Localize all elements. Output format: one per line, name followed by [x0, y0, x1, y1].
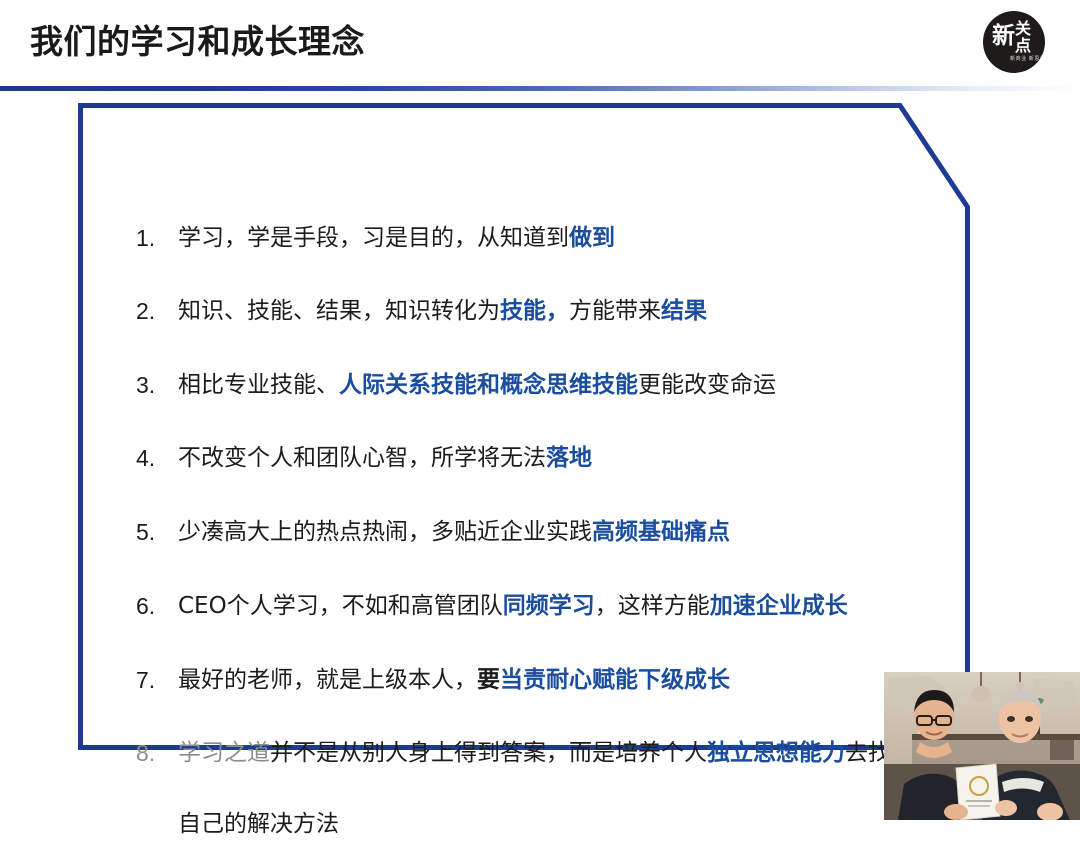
- list-item-text: 少凑高大上的热点热闹，多贴近企业实践高频基础痛点: [178, 515, 730, 549]
- logo-subtext: 新商业 新思维: [1010, 55, 1045, 62]
- list-item: 8. 学习之道并不是从别人身上得到答案，而是培养个人独立思想能力去找: [136, 736, 891, 770]
- list-item-number: 5.: [136, 515, 178, 549]
- list-item-number: 1.: [136, 221, 178, 255]
- text-segment: 知识、技能、结果，知识转化为: [178, 298, 500, 324]
- text-segment-bold: 要: [477, 667, 500, 693]
- text-segment: 相比专业技能、: [178, 372, 339, 398]
- text-segment-dim: 学习之道: [178, 740, 270, 766]
- text-segment: ，这样方能: [595, 593, 710, 619]
- slide-root: 我们的学习和成长理念 新 关 点 新商业 新思维 1. 学习，学是手段，习是目的…: [0, 0, 1080, 820]
- list-item-text: 相比专业技能、人际关系技能和概念思维技能更能改变命运: [178, 368, 776, 402]
- list-item-number: 7.: [136, 663, 178, 697]
- list-item-text: 知识、技能、结果，知识转化为技能，方能带来结果: [178, 294, 707, 328]
- text-segment-highlight: 独立思想能力: [707, 740, 845, 766]
- text-segment: 少凑高大上的热点热闹，多贴近企业实践: [178, 519, 592, 545]
- text-segment: 并不是从别人身上得到答案，而是培养个人: [270, 740, 707, 766]
- content-box: 1. 学习，学是手段，习是目的，从知道到做到 2. 知识、技能、结果，知识转化为…: [78, 103, 970, 750]
- brand-logo: 新 关 点 新商业 新思维: [983, 11, 1045, 73]
- list-item-text: 最好的老师，就是上级本人，要当责耐心赋能下级成长: [178, 663, 730, 697]
- list-item-text: 不改变个人和团队心智，所学将无法落地: [178, 441, 592, 475]
- list-item-number: 2.: [136, 294, 178, 328]
- list-item-text: 学习，学是手段，习是目的，从知道到做到: [178, 221, 615, 255]
- logo-char-left: 新: [992, 24, 1015, 48]
- principles-list: 1. 学习，学是手段，习是目的，从知道到做到 2. 知识、技能、结果，知识转化为…: [78, 103, 970, 750]
- text-segment: 最好的老师，就是上级本人，: [178, 667, 477, 693]
- list-item-number: 8.: [136, 736, 178, 770]
- text-segment: 方能带来: [569, 298, 661, 324]
- list-item-text: 学习之道并不是从别人身上得到答案，而是培养个人独立思想能力去找: [178, 736, 891, 770]
- list-item: 1. 学习，学是手段，习是目的，从知道到做到: [136, 221, 615, 255]
- list-item-number: 6.: [136, 589, 178, 623]
- text-segment: 学习，学是手段，习是目的，从知道到: [178, 225, 569, 251]
- text-segment-highlight: 同频学习: [503, 593, 595, 619]
- list-item-continuation: 自己的解决方法: [178, 807, 339, 841]
- text-segment-highlight: 当责耐心赋能下级成长: [500, 667, 730, 693]
- list-item-text: CEO个人学习，不如和高管团队同频学习，这样方能加速企业成长: [178, 589, 848, 623]
- photo-two-men-with-book: [884, 672, 1080, 820]
- text-segment-highlight: 做到: [569, 225, 615, 251]
- text-segment: 更能改变命运: [638, 372, 776, 398]
- text-segment-highlight: 技能，: [500, 298, 569, 324]
- list-item: 2. 知识、技能、结果，知识转化为技能，方能带来结果: [136, 294, 707, 328]
- logo-char-stack: 关 点: [1015, 20, 1031, 54]
- text-segment: CEO个人学习，不如和高管团队: [178, 593, 503, 619]
- photo-illustration: [884, 672, 1080, 820]
- page-title: 我们的学习和成长理念: [30, 20, 365, 64]
- list-item: 3. 相比专业技能、人际关系技能和概念思维技能更能改变命运: [136, 368, 776, 402]
- text-segment-highlight: 人际关系技能和概念思维技能: [339, 372, 638, 398]
- slide-header: 我们的学习和成长理念 新 关 点 新商业 新思维: [0, 0, 1080, 90]
- list-item: 5. 少凑高大上的热点热闹，多贴近企业实践高频基础痛点: [136, 515, 730, 549]
- text-segment: 不改变个人和团队心智，所学将无法: [178, 445, 546, 471]
- list-item: 4. 不改变个人和团队心智，所学将无法落地: [136, 441, 592, 475]
- list-item-number: 3.: [136, 368, 178, 402]
- text-segment-highlight: 加速企业成长: [710, 593, 848, 619]
- logo-char-top: 关: [1015, 20, 1031, 37]
- list-item-number: 4.: [136, 441, 178, 475]
- text-segment-highlight: 结果: [661, 298, 707, 324]
- logo-char-bottom: 点: [1015, 37, 1031, 54]
- list-item: 7. 最好的老师，就是上级本人，要当责耐心赋能下级成长: [136, 663, 730, 697]
- header-divider-rule: [0, 86, 1080, 91]
- list-item: 6. CEO个人学习，不如和高管团队同频学习，这样方能加速企业成长: [136, 589, 848, 623]
- text-segment-highlight: 落地: [546, 445, 592, 471]
- text-segment-highlight: 高频基础痛点: [592, 519, 730, 545]
